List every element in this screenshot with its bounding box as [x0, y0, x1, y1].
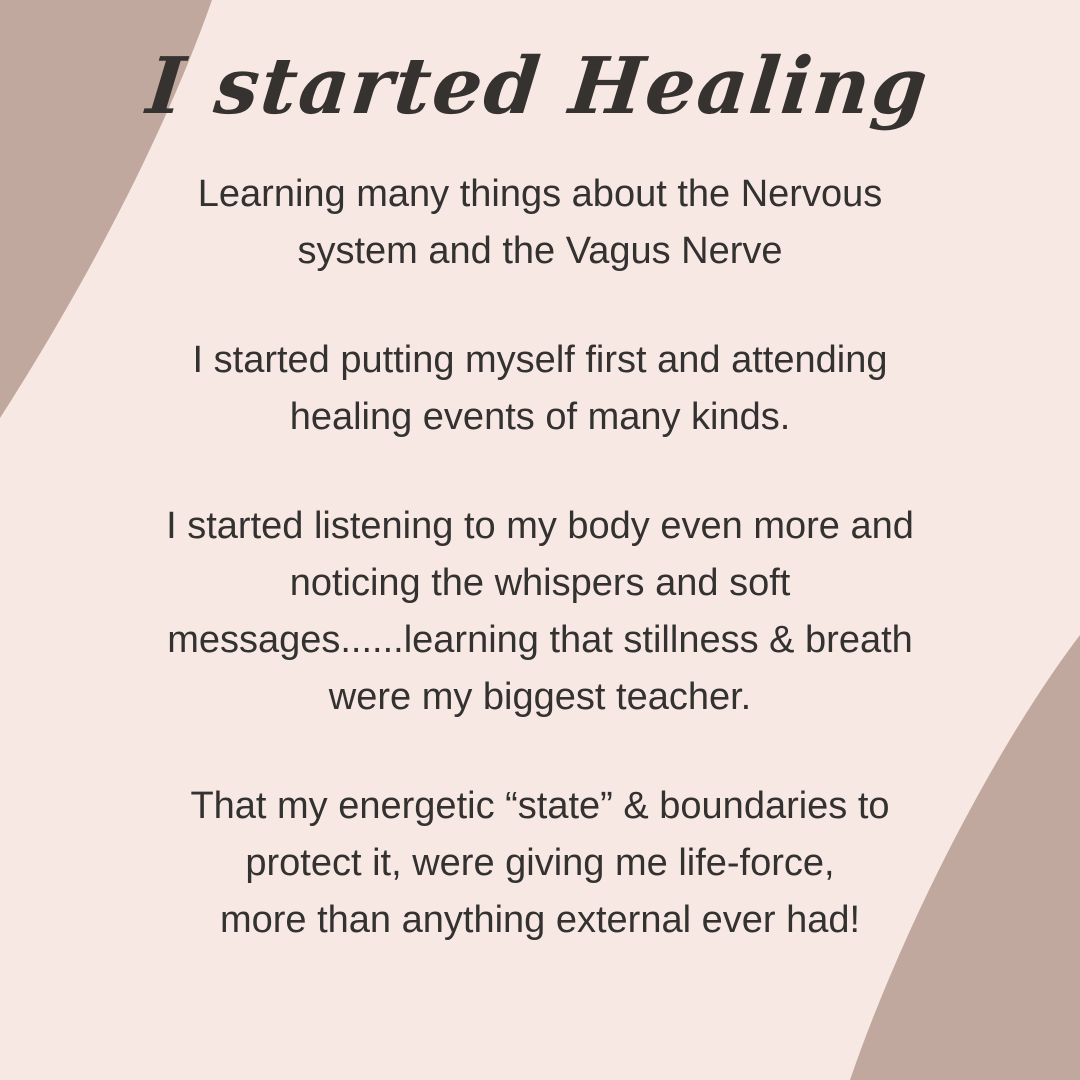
- text-line: protect it, were giving me life-force,: [110, 835, 970, 892]
- paragraph-energetic-state: That my energetic “state” & boundaries t…: [110, 778, 970, 949]
- text-line: That my energetic “state” & boundaries t…: [110, 778, 970, 835]
- text-line: were my biggest teacher.: [110, 669, 970, 726]
- text-line: noticing the whispers and soft: [110, 555, 970, 612]
- body-text: Learning many things about the Nervous s…: [110, 166, 970, 949]
- page-title: I started Healing: [143, 0, 937, 128]
- paragraph-nervous-system: Learning many things about the Nervous s…: [110, 166, 970, 280]
- text-line: healing events of many kinds.: [110, 389, 970, 446]
- text-line: messages......learning that stillness & …: [110, 612, 970, 669]
- quote-card: I started Healing Learning many things a…: [0, 0, 1080, 1080]
- paragraph-listening-to-body: I started listening to my body even more…: [110, 498, 970, 726]
- card-content: I started Healing Learning many things a…: [0, 0, 1080, 1080]
- text-line: system and the Vagus Nerve: [110, 223, 970, 280]
- paragraph-putting-myself-first: I started putting myself first and atten…: [110, 332, 970, 446]
- text-line: more than anything external ever had!: [110, 892, 970, 949]
- text-line: Learning many things about the Nervous: [110, 166, 970, 223]
- text-line: I started putting myself first and atten…: [110, 332, 970, 389]
- text-line: I started listening to my body even more…: [110, 498, 970, 555]
